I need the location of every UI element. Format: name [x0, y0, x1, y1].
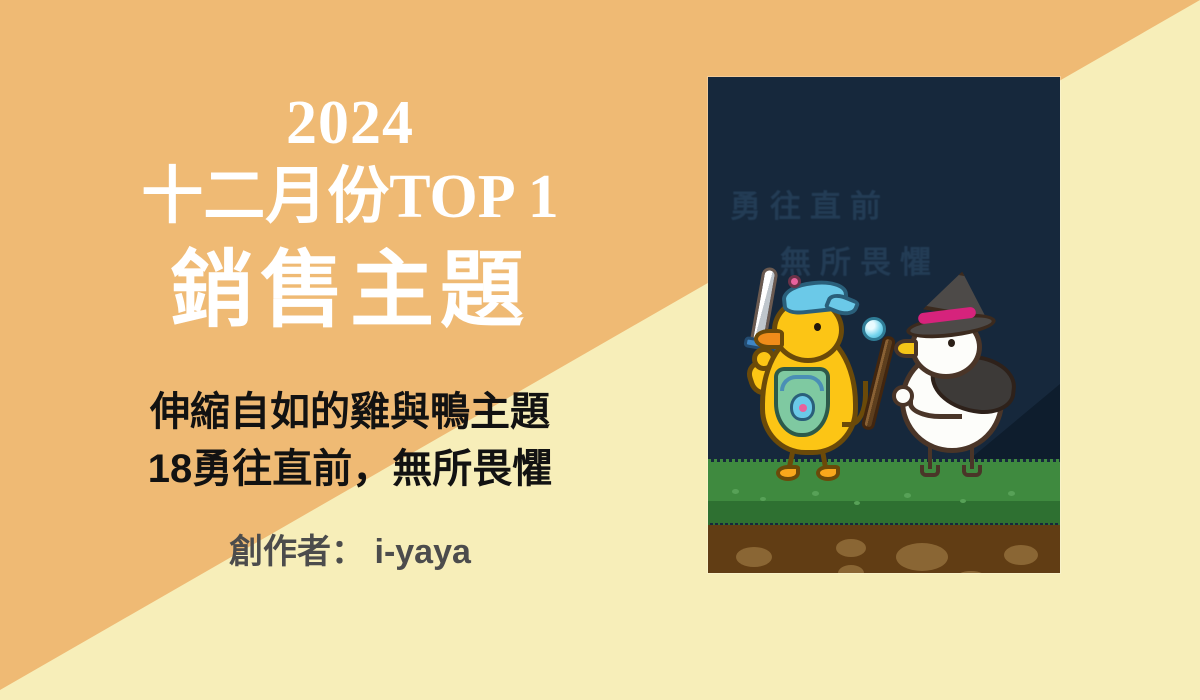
- duck-foot: [816, 465, 840, 481]
- shield-band: [780, 375, 824, 391]
- chicken-beak: [894, 339, 918, 358]
- page-title: 銷售主題: [170, 248, 530, 332]
- dirt-pebble: [736, 547, 772, 567]
- subtitle-line-2: 18勇往直前，無所畏懼: [148, 441, 553, 498]
- subtitle-line-1: 伸縮自如的雞與鴨主題: [148, 384, 553, 441]
- artwork-slogan-line-1: 勇往直前: [730, 181, 890, 226]
- chicken-claw: [962, 465, 982, 477]
- yellow-duck-knight: [742, 273, 882, 485]
- chicken-hand: [892, 385, 914, 407]
- chicken-claw: [920, 465, 940, 477]
- grass-speck: [854, 501, 860, 505]
- duck-foot: [776, 465, 800, 481]
- grass-speck: [760, 497, 766, 501]
- dirt-pebble: [896, 543, 948, 571]
- dirt-pebble: [1004, 545, 1038, 565]
- dirt-pebble: [836, 539, 866, 557]
- preview-canvas: 2024 十二月份TOP 1 銷售主題 伸縮自如的雞與鴨主題 18勇往直前，無所…: [0, 0, 1200, 700]
- title-rank-line: 十二月份TOP 1: [141, 166, 558, 228]
- white-chicken-mage: [886, 293, 1036, 483]
- artwork-preview[interactable]: 勇往直前 無所畏懼: [708, 77, 1060, 573]
- duck-eye: [814, 323, 821, 331]
- title-year: 2024: [286, 92, 414, 154]
- author-credit: 創作者： i-yaya: [229, 524, 471, 573]
- subtitle-block: 伸縮自如的雞與鴨主題 18勇往直前，無所畏懼: [148, 384, 553, 498]
- grass-speck: [812, 491, 819, 496]
- grass-speck: [1008, 491, 1015, 496]
- shield-emblem-gem: [799, 404, 807, 412]
- duck-beak: [754, 329, 784, 349]
- grass-speck: [732, 489, 739, 494]
- chicken-eye: [948, 339, 955, 347]
- grass-speck: [904, 493, 911, 498]
- text-column: 2024 十二月份TOP 1 銷售主題 伸縮自如的雞與鴨主題 18勇往直前，無所…: [0, 0, 700, 700]
- grass-speck: [960, 499, 966, 503]
- helmet-gem: [788, 275, 801, 288]
